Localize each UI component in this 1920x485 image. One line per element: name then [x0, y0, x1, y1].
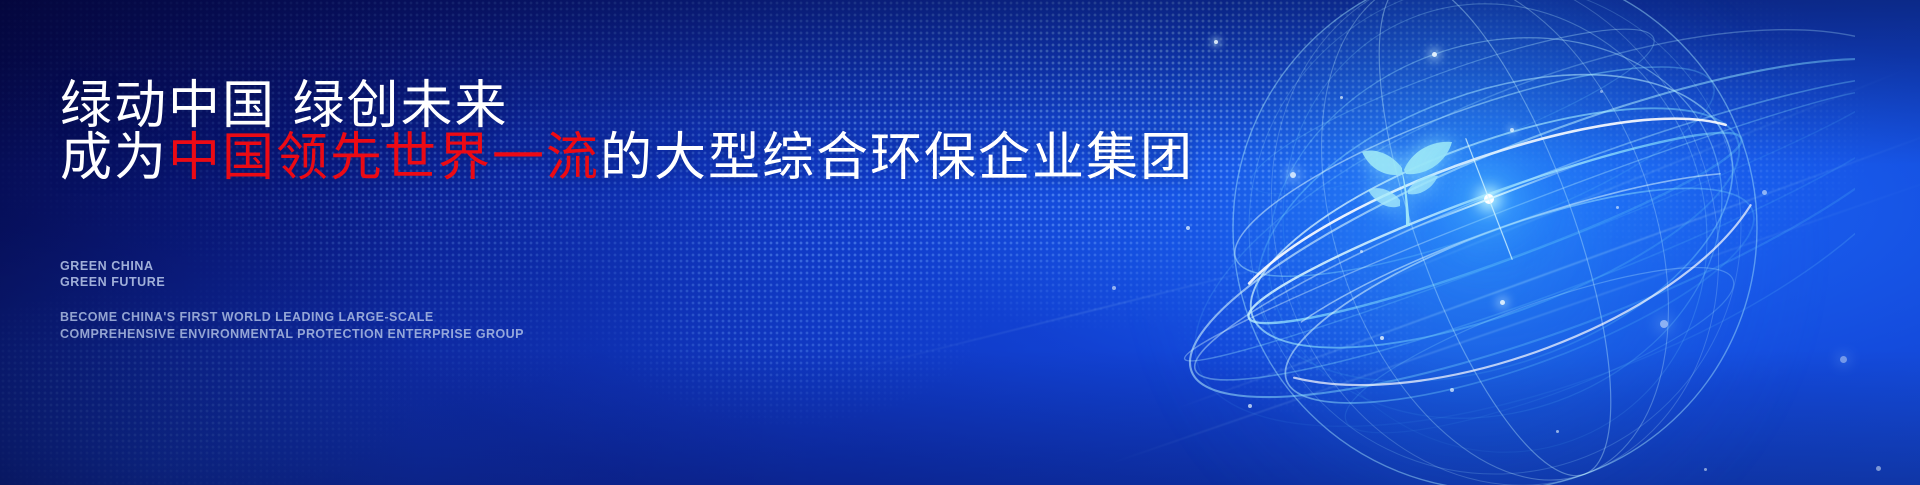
headline-prefix: 成为: [60, 129, 168, 187]
headline-suffix: 的大型综合环保企业集团: [600, 129, 1194, 187]
headline-highlight: 中国领先世界一流: [168, 129, 600, 187]
english-tagline: BECOME CHINA'S FIRST WORLD LEADING LARGE…: [60, 309, 524, 342]
headline-line-2: 成为中国领先世界一流的大型综合环保企业集团: [60, 128, 1194, 188]
english-tagline-line-2: COMPREHENSIVE ENVIRONMENTAL PROTECTION E…: [60, 326, 524, 343]
english-subtitle-line-2: GREEN FUTURE: [60, 274, 165, 290]
hero-banner: 绿动中国 绿创未来 成为中国领先世界一流的大型综合环保企业集团 GREEN CH…: [0, 0, 1920, 485]
english-tagline-line-1: BECOME CHINA'S FIRST WORLD LEADING LARGE…: [60, 309, 524, 326]
english-subtitle-line-1: GREEN CHINA: [60, 258, 165, 274]
english-subtitle: GREEN CHINA GREEN FUTURE: [60, 258, 165, 291]
banner-copy: 绿动中国 绿创未来 成为中国领先世界一流的大型综合环保企业集团 GREEN CH…: [60, 0, 1110, 485]
